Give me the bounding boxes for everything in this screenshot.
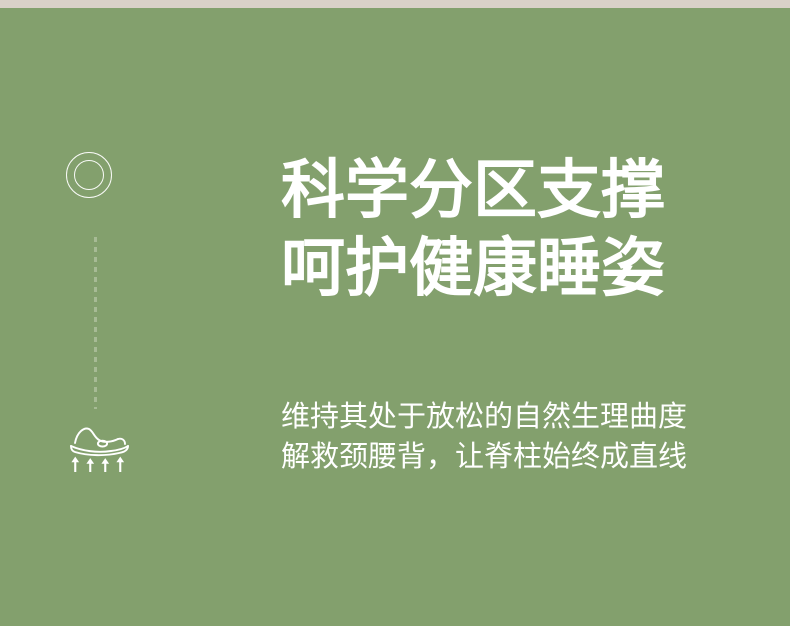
promo-banner: 科学分区支撑 呵护健康睡姿 维持其处于放松的自然生理曲度 解救颈腰背，让脊柱始终… xyxy=(0,0,790,626)
circle-inner-ring xyxy=(74,160,104,190)
mattress-support-glyph xyxy=(66,421,132,473)
subcopy-block: 维持其处于放松的自然生理曲度 解救颈腰背，让脊柱始终成直线 xyxy=(281,396,741,476)
mattress-support-icon xyxy=(66,421,132,473)
concentric-circle-icon xyxy=(66,152,114,200)
headline-line-1: 科学分区支撑 xyxy=(281,152,741,230)
dashed-vertical-divider xyxy=(94,237,97,409)
upward-arrows xyxy=(71,457,124,472)
top-beige-strip xyxy=(0,0,790,8)
subcopy-line-1: 维持其处于放松的自然生理曲度 xyxy=(281,396,741,436)
subcopy-line-2: 解救颈腰背，让脊柱始终成直线 xyxy=(281,436,741,476)
headline-line-2: 呵护健康睡姿 xyxy=(281,230,741,308)
left-decorative-rail xyxy=(58,145,138,485)
headline-block: 科学分区支撑 呵护健康睡姿 xyxy=(281,152,741,308)
